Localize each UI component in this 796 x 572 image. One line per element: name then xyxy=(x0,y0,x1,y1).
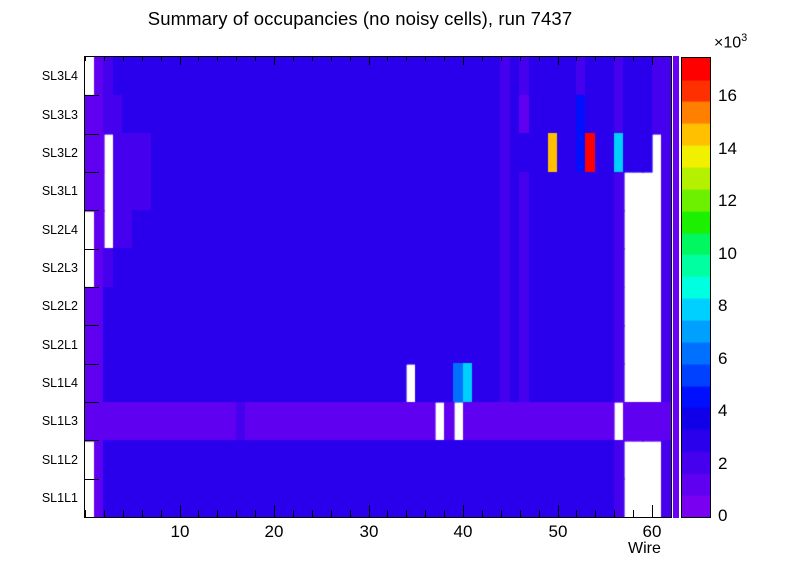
x-axis-minor-tick xyxy=(198,510,199,517)
x-axis-top-tick xyxy=(633,56,634,61)
x-axis-minor-tick xyxy=(312,510,313,517)
y-axis-tick xyxy=(85,287,99,288)
x-axis-top-tick xyxy=(331,56,332,61)
x-axis-top-tick xyxy=(425,56,426,61)
x-axis-top-tick xyxy=(293,56,294,61)
x-axis-top-tick xyxy=(576,56,577,61)
x-axis-top-tick xyxy=(350,56,351,61)
x-axis-minor-tick xyxy=(123,510,124,517)
x-axis-major-tick xyxy=(652,505,653,517)
colorbar-tick-label: 16 xyxy=(718,86,737,106)
x-axis-top-tick xyxy=(614,56,615,61)
x-axis-minor-tick xyxy=(671,510,672,517)
x-axis-minor-tick xyxy=(539,510,540,517)
y-axis-tick-label: SL1L2 xyxy=(16,453,78,467)
x-axis-minor-tick xyxy=(614,510,615,517)
x-axis-tick-label: 40 xyxy=(440,522,486,542)
y-axis-tick xyxy=(85,210,99,211)
x-axis-top-tick xyxy=(198,56,199,61)
x-axis-top-tick xyxy=(255,56,256,61)
x-axis-minor-tick xyxy=(501,510,502,517)
y-axis-tick xyxy=(85,517,99,518)
x-axis-minor-tick xyxy=(633,510,634,517)
x-axis-title: Wire xyxy=(628,540,661,558)
x-axis-top-tick xyxy=(104,56,105,61)
x-axis-top-tick xyxy=(387,56,388,61)
x-axis-top-tick xyxy=(558,56,559,65)
colorbar-tick-label: 6 xyxy=(718,349,727,369)
y-axis-tick-label: SL2L2 xyxy=(16,299,78,313)
x-axis-major-tick xyxy=(558,505,559,517)
x-axis-major-tick xyxy=(463,505,464,517)
x-axis-top-tick xyxy=(161,56,162,61)
x-axis-top-tick xyxy=(369,56,370,65)
heatmap-overflow-column xyxy=(673,56,679,518)
x-axis-top-tick xyxy=(482,56,483,61)
x-axis-minor-tick xyxy=(331,510,332,517)
x-axis-top-tick xyxy=(595,56,596,61)
x-axis-top-tick xyxy=(274,56,275,65)
x-axis-minor-tick xyxy=(255,510,256,517)
x-axis-minor-tick xyxy=(293,510,294,517)
y-axis-tick xyxy=(85,172,99,173)
x-axis-minor-tick xyxy=(595,510,596,517)
x-axis-minor-tick xyxy=(85,510,86,517)
x-axis-minor-tick xyxy=(217,510,218,517)
x-axis-top-tick xyxy=(123,56,124,61)
colorbar-tick-label: 4 xyxy=(718,401,727,421)
y-axis-tick xyxy=(85,249,99,250)
plot-root: Summary of occupancies (no noisy cells),… xyxy=(0,0,796,572)
colorbar-tick-label: 10 xyxy=(718,244,737,264)
x-axis-minor-tick xyxy=(576,510,577,517)
x-axis-minor-tick xyxy=(482,510,483,517)
x-axis-top-tick xyxy=(444,56,445,61)
y-axis-tick xyxy=(85,479,99,480)
y-axis-tick-label: SL2L3 xyxy=(16,261,78,275)
colorbar-tick-label: 12 xyxy=(718,191,737,211)
x-axis-major-tick xyxy=(274,505,275,517)
y-axis-tick xyxy=(85,325,99,326)
colorbar-canvas xyxy=(682,58,710,517)
x-axis-top-tick xyxy=(406,56,407,61)
x-axis-minor-tick xyxy=(387,510,388,517)
colorbar-multiplier-base: ×10 xyxy=(714,34,741,51)
x-axis-top-tick xyxy=(520,56,521,61)
y-axis-tick xyxy=(85,440,99,441)
x-axis-top-tick xyxy=(671,56,672,61)
x-axis-top-tick xyxy=(463,56,464,65)
x-axis-major-tick xyxy=(180,505,181,517)
x-axis-top-tick xyxy=(312,56,313,61)
x-axis-top-tick xyxy=(217,56,218,61)
colorbar-multiplier-exponent: 3 xyxy=(741,32,747,44)
colorbar-tick-label: 2 xyxy=(718,454,727,474)
x-axis-minor-tick xyxy=(350,510,351,517)
y-axis-tick-label: SL1L1 xyxy=(16,491,78,505)
colorbar-tick-label: 0 xyxy=(718,506,727,526)
x-axis-minor-tick xyxy=(142,510,143,517)
page-title: Summary of occupancies (no noisy cells),… xyxy=(0,8,720,30)
x-axis-top-tick xyxy=(180,56,181,65)
y-axis-tick xyxy=(85,134,99,135)
heatmap-canvas[interactable] xyxy=(85,57,671,517)
y-axis-tick xyxy=(85,402,99,403)
x-axis-top-tick xyxy=(236,56,237,61)
colorbar-tick-label: 14 xyxy=(718,139,737,159)
y-axis-tick-label: SL3L2 xyxy=(16,146,78,160)
x-axis-top-tick xyxy=(85,56,86,61)
x-axis-top-tick xyxy=(652,56,653,65)
x-axis-tick-label: 50 xyxy=(535,522,581,542)
x-axis-minor-tick xyxy=(520,510,521,517)
colorbar-tick-label: 8 xyxy=(718,296,727,316)
y-axis-tick-label: SL3L1 xyxy=(16,184,78,198)
x-axis-minor-tick xyxy=(425,510,426,517)
y-axis-tick xyxy=(85,364,99,365)
x-axis-tick-label: 30 xyxy=(346,522,392,542)
x-axis-tick-label: 10 xyxy=(157,522,203,542)
x-axis-minor-tick xyxy=(104,510,105,517)
y-axis-tick-label: SL3L3 xyxy=(16,108,78,122)
x-axis-tick-label: 20 xyxy=(251,522,297,542)
x-axis-top-tick xyxy=(539,56,540,61)
y-axis-tick-label: SL2L1 xyxy=(16,338,78,352)
x-axis-minor-tick xyxy=(406,510,407,517)
x-axis-minor-tick xyxy=(236,510,237,517)
x-axis-top-tick xyxy=(142,56,143,61)
x-axis-major-tick xyxy=(369,505,370,517)
y-axis-tick-label: SL1L4 xyxy=(16,376,78,390)
y-axis-tick-label: SL1L3 xyxy=(16,414,78,428)
x-axis-minor-tick xyxy=(161,510,162,517)
x-axis-top-tick xyxy=(501,56,502,61)
y-axis-tick-label: SL2L4 xyxy=(16,223,78,237)
x-axis-tick-label: 60 xyxy=(629,522,675,542)
x-axis-minor-tick xyxy=(444,510,445,517)
colorbar-multiplier: ×103 xyxy=(714,32,747,52)
heatmap-plot-area[interactable] xyxy=(84,56,672,518)
colorbar[interactable] xyxy=(681,57,711,518)
y-axis-tick xyxy=(85,95,99,96)
y-axis-tick-label: SL3L4 xyxy=(16,69,78,83)
